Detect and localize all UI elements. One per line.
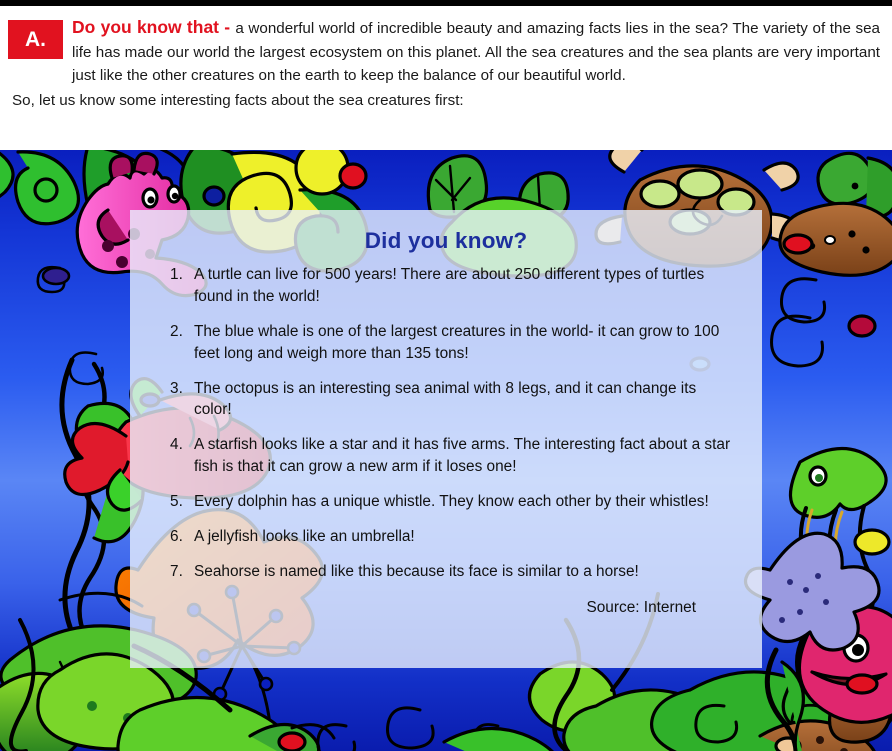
list-item: Seahorse is named like this because its …: [194, 561, 734, 583]
facts-list: A turtle can live for 500 years! There a…: [152, 264, 740, 583]
source-attribution: Source: Internet: [152, 599, 696, 617]
page-root: A. Do you know that - a wonderful world …: [0, 0, 892, 751]
list-item: The blue whale is one of the largest cre…: [194, 321, 734, 365]
header-block: A. Do you know that - a wonderful world …: [0, 8, 892, 112]
did-you-know-card: Did you know? A turtle can live for 500 …: [130, 210, 762, 668]
prompt-line: So, let us know some interesting facts a…: [0, 87, 892, 112]
list-item: A turtle can live for 500 years! There a…: [194, 264, 734, 308]
intro-paragraph: Do you know that - a wonderful world of …: [0, 8, 892, 87]
list-item: The octopus is an interesting sea animal…: [194, 378, 734, 422]
list-item: Every dolphin has a unique whistle. They…: [194, 491, 734, 513]
top-divider-rule: [0, 0, 892, 6]
lead-phrase: Do you know that -: [72, 17, 235, 37]
section-marker-badge: A.: [8, 20, 63, 59]
card-title: Did you know?: [152, 228, 740, 254]
list-item: A starfish looks like a star and it has …: [194, 434, 734, 478]
list-item: A jellyfish looks like an umbrella!: [194, 526, 734, 548]
